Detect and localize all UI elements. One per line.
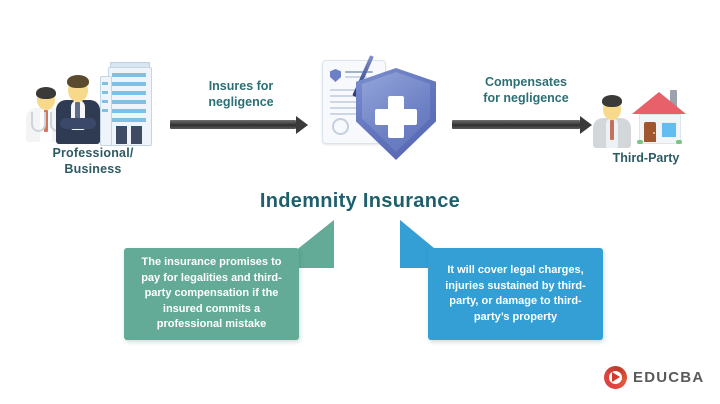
house-window — [661, 122, 677, 138]
arrow-compensates: Compensates for negligence — [452, 74, 600, 134]
left-actor-label-line1: Professional/ — [18, 145, 168, 161]
educba-wordmark: EDUCBA — [633, 369, 704, 386]
left-actor-group: Professional/ Business — [18, 60, 168, 185]
person-icon — [592, 92, 632, 148]
page-title: Indemnity Insurance — [0, 190, 720, 213]
arrow-insures-caption: Insures for negligence — [170, 78, 312, 110]
arrow-insures: Insures for negligence — [170, 78, 312, 138]
diagram-canvas: Professional/ Business Insures for negli… — [0, 0, 720, 404]
arrow-compensates-bar — [452, 120, 580, 129]
arrow-insures-head — [296, 116, 308, 134]
arrow-insures-line2: negligence — [170, 94, 312, 110]
arrow-compensates-caption: Compensates for negligence — [452, 74, 600, 106]
arrow-compensates-line1: Compensates — [452, 74, 600, 90]
document-seal-glyph — [332, 118, 349, 135]
shield-cross-horizontal — [375, 109, 417, 125]
house-roof — [632, 92, 686, 114]
callout-green: The insurance promises to pay for legali… — [124, 220, 324, 340]
house-icon — [630, 86, 692, 148]
left-actor-label: Professional/ Business — [18, 145, 168, 177]
right-actor-art — [586, 80, 706, 150]
callout-blue: It will cover legal charges, injuries su… — [400, 220, 600, 340]
left-actor-art — [18, 60, 168, 145]
educba-logo: EDUCBA — [604, 362, 708, 392]
arrow-compensates-line2: for negligence — [452, 90, 600, 106]
businessman-icon — [54, 72, 102, 144]
office-building-icon — [100, 62, 158, 144]
right-actor-label: Third-Party — [586, 150, 706, 166]
arrow-insures-bar — [170, 120, 296, 129]
callout-green-text: The insurance promises to pay for legali… — [124, 248, 299, 340]
arrow-insures-line1: Insures for — [170, 78, 312, 94]
callout-blue-text: It will cover legal charges, injuries su… — [428, 248, 603, 340]
center-shield-group — [316, 52, 446, 167]
educba-mark-icon — [604, 366, 627, 389]
left-actor-label-line2: Business — [18, 161, 168, 177]
right-actor-group: Third-Party — [586, 80, 706, 185]
document-shield-glyph — [330, 69, 341, 82]
